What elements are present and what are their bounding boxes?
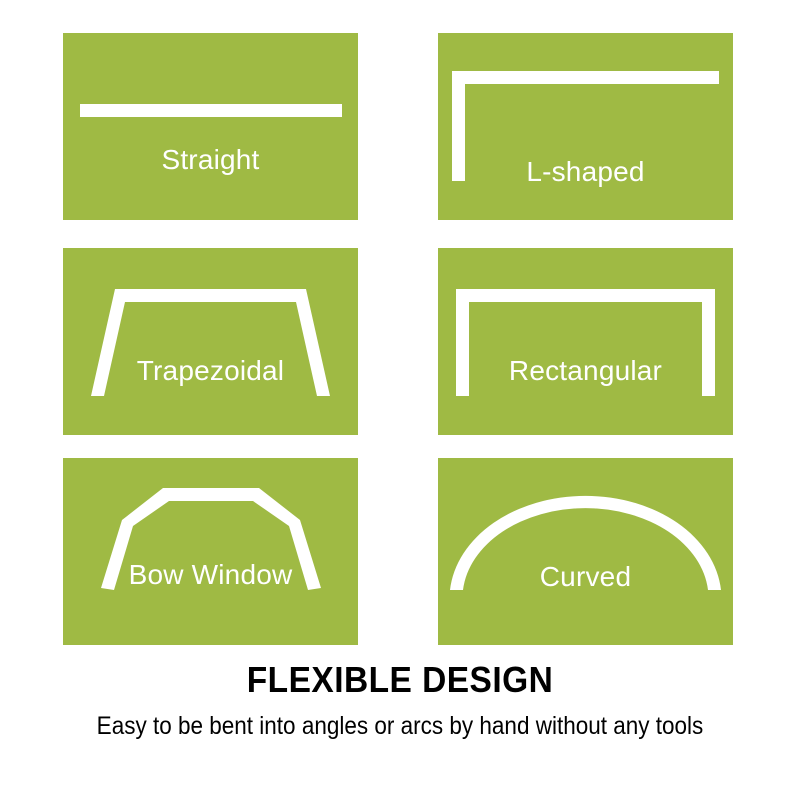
footer-block: FLEXIBLE DESIGN Easy to be bent into ang…: [0, 660, 800, 740]
trapezoidal-shape-icon: [63, 248, 358, 435]
shape-card-label-bow-window: Bow Window: [63, 561, 358, 589]
shape-card-label-rectangular: Rectangular: [438, 357, 733, 385]
shape-card-rectangular[interactable]: Rectangular: [438, 248, 733, 435]
shape-card-label-curved: Curved: [438, 563, 733, 591]
bow-window-shape-icon: [63, 458, 358, 645]
curved-shape-icon: [438, 458, 733, 645]
shape-card-straight[interactable]: Straight: [63, 33, 358, 220]
l-shaped-shape-icon: [438, 33, 733, 220]
shape-grid: Straight L-shaped Trapezoidal Rectangula…: [63, 33, 733, 645]
shape-card-trapezoidal[interactable]: Trapezoidal: [63, 248, 358, 435]
shape-card-label-trapezoidal: Trapezoidal: [63, 357, 358, 385]
shape-card-label-l-shaped: L-shaped: [438, 158, 733, 186]
shape-card-bow-window[interactable]: Bow Window: [63, 458, 358, 645]
product-feature-graphic: Straight L-shaped Trapezoidal Rectangula…: [0, 0, 800, 800]
footer-subheadline: Easy to be bent into angles or arcs by h…: [40, 712, 760, 741]
shape-card-l-shaped[interactable]: L-shaped: [438, 33, 733, 220]
footer-headline: FLEXIBLE DESIGN: [28, 660, 772, 700]
shape-card-curved[interactable]: Curved: [438, 458, 733, 645]
rectangular-shape-icon: [438, 248, 733, 435]
straight-shape-icon: [63, 33, 358, 220]
shape-card-label-straight: Straight: [63, 146, 358, 174]
